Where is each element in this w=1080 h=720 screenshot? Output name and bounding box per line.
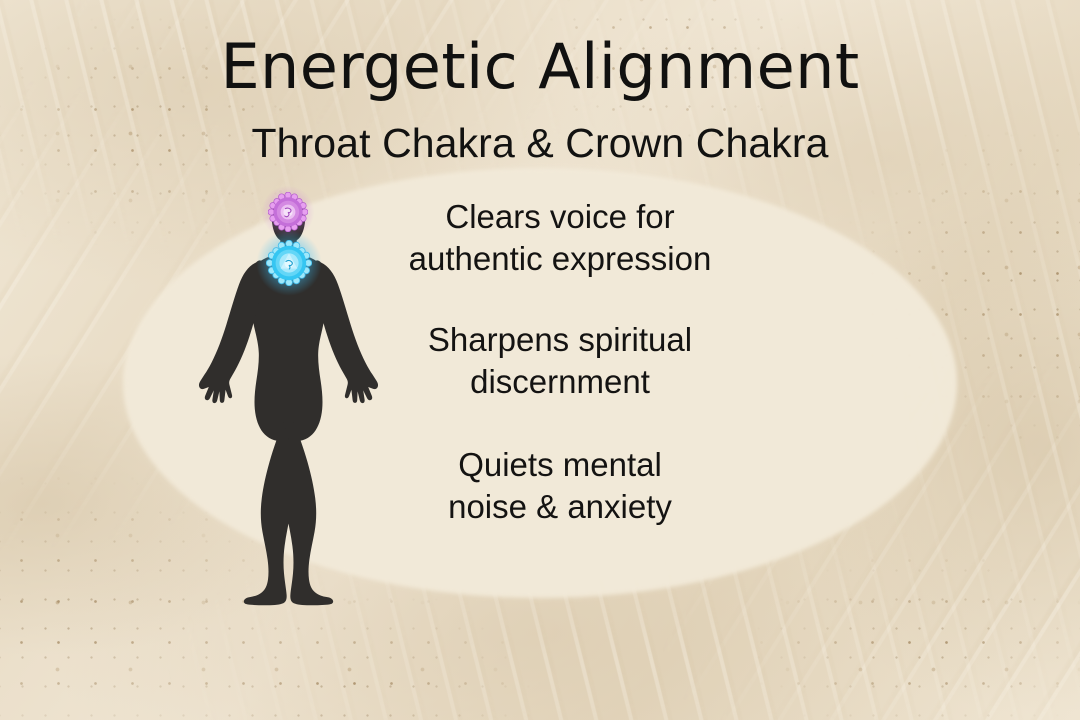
page-subtitle: Throat Chakra & Crown Chakra (0, 120, 1080, 167)
crown-chakra-lotus-icon (268, 192, 308, 232)
benefits-list: Clears voice for authentic expression Sh… (360, 196, 760, 527)
benefit-3-line-2: noise & anxiety (360, 486, 760, 528)
slide-canvas: Energetic Alignment Throat Chakra & Crow… (0, 0, 1080, 720)
benefit-item-1: Clears voice for authentic expression (360, 196, 760, 279)
benefit-1-line-2: authentic expression (360, 238, 760, 280)
benefit-3-line-1: Quiets mental (458, 446, 662, 483)
benefit-2-line-2: discernment (360, 361, 760, 403)
benefit-1-line-1: Clears voice for (445, 198, 674, 235)
throat-chakra-lotus-icon (266, 240, 312, 286)
benefit-item-2: Sharpens spiritual discernment (360, 319, 760, 402)
page-title: Energetic Alignment (0, 30, 1080, 103)
benefit-item-3: Quiets mental noise & anxiety (360, 444, 760, 527)
benefit-2-line-1: Sharpens spiritual (428, 321, 692, 358)
